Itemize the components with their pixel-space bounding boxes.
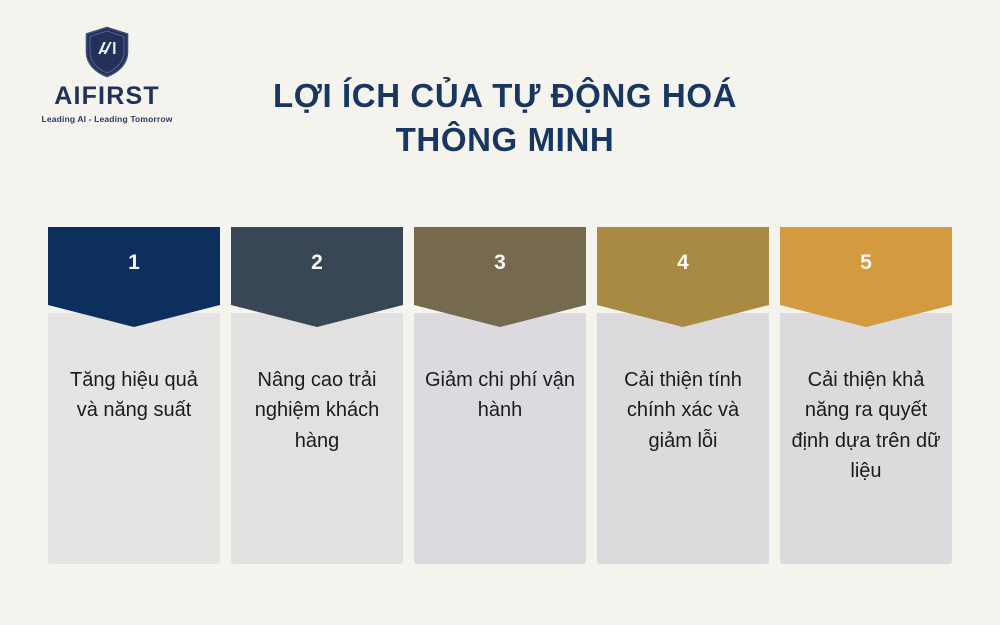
benefit-cards-row: 1 Tăng hiệu quả và năng suất 2 Nâng cao … [48, 227, 952, 564]
page-title: LỢI ÍCH CỦA TỰ ĐỘNG HOÁ THÔNG MINH [200, 74, 810, 162]
card-text-2: Nâng cao trải nghiệm khách hàng [240, 365, 394, 456]
card-text-5: Cải thiện khả năng ra quyết định dựa trê… [789, 365, 943, 487]
card-number-2: 2 [311, 252, 323, 273]
card-header-5: 5 [780, 227, 952, 327]
card-body-2: Nâng cao trải nghiệm khách hàng [231, 313, 403, 564]
shield-ai-icon [84, 26, 130, 78]
card-header-2: 2 [231, 227, 403, 327]
brand-logo: AIFIRST Leading AI - Leading Tomorrow [22, 26, 192, 136]
brand-wordmark: AIFIRST [54, 82, 160, 111]
card-body-3: Giảm chi phí vận hành [414, 313, 586, 564]
page-title-line-2: THÔNG MINH [200, 118, 810, 162]
card-header-3: 3 [414, 227, 586, 327]
benefit-card-3[interactable]: 3 Giảm chi phí vận hành [414, 227, 586, 564]
card-header-1: 1 [48, 227, 220, 327]
brand-tagline: Leading AI - Leading Tomorrow [42, 114, 173, 124]
card-text-1: Tăng hiệu quả và năng suất [57, 365, 211, 426]
card-text-4: Cải thiện tính chính xác và giảm lỗi [606, 365, 760, 456]
card-header-4: 4 [597, 227, 769, 327]
card-number-3: 3 [494, 252, 506, 273]
benefit-card-1[interactable]: 1 Tăng hiệu quả và năng suất [48, 227, 220, 564]
card-number-5: 5 [860, 252, 872, 273]
card-body-4: Cải thiện tính chính xác và giảm lỗi [597, 313, 769, 564]
card-body-5: Cải thiện khả năng ra quyết định dựa trê… [780, 313, 952, 564]
card-number-1: 1 [128, 252, 140, 273]
benefit-card-2[interactable]: 2 Nâng cao trải nghiệm khách hàng [231, 227, 403, 564]
card-body-1: Tăng hiệu quả và năng suất [48, 313, 220, 564]
card-number-4: 4 [677, 252, 689, 273]
page-title-line-1: LỢI ÍCH CỦA TỰ ĐỘNG HOÁ [200, 74, 810, 118]
benefit-card-5[interactable]: 5 Cải thiện khả năng ra quyết định dựa t… [780, 227, 952, 564]
card-text-3: Giảm chi phí vận hành [423, 365, 577, 426]
benefit-card-4[interactable]: 4 Cải thiện tính chính xác và giảm lỗi [597, 227, 769, 564]
